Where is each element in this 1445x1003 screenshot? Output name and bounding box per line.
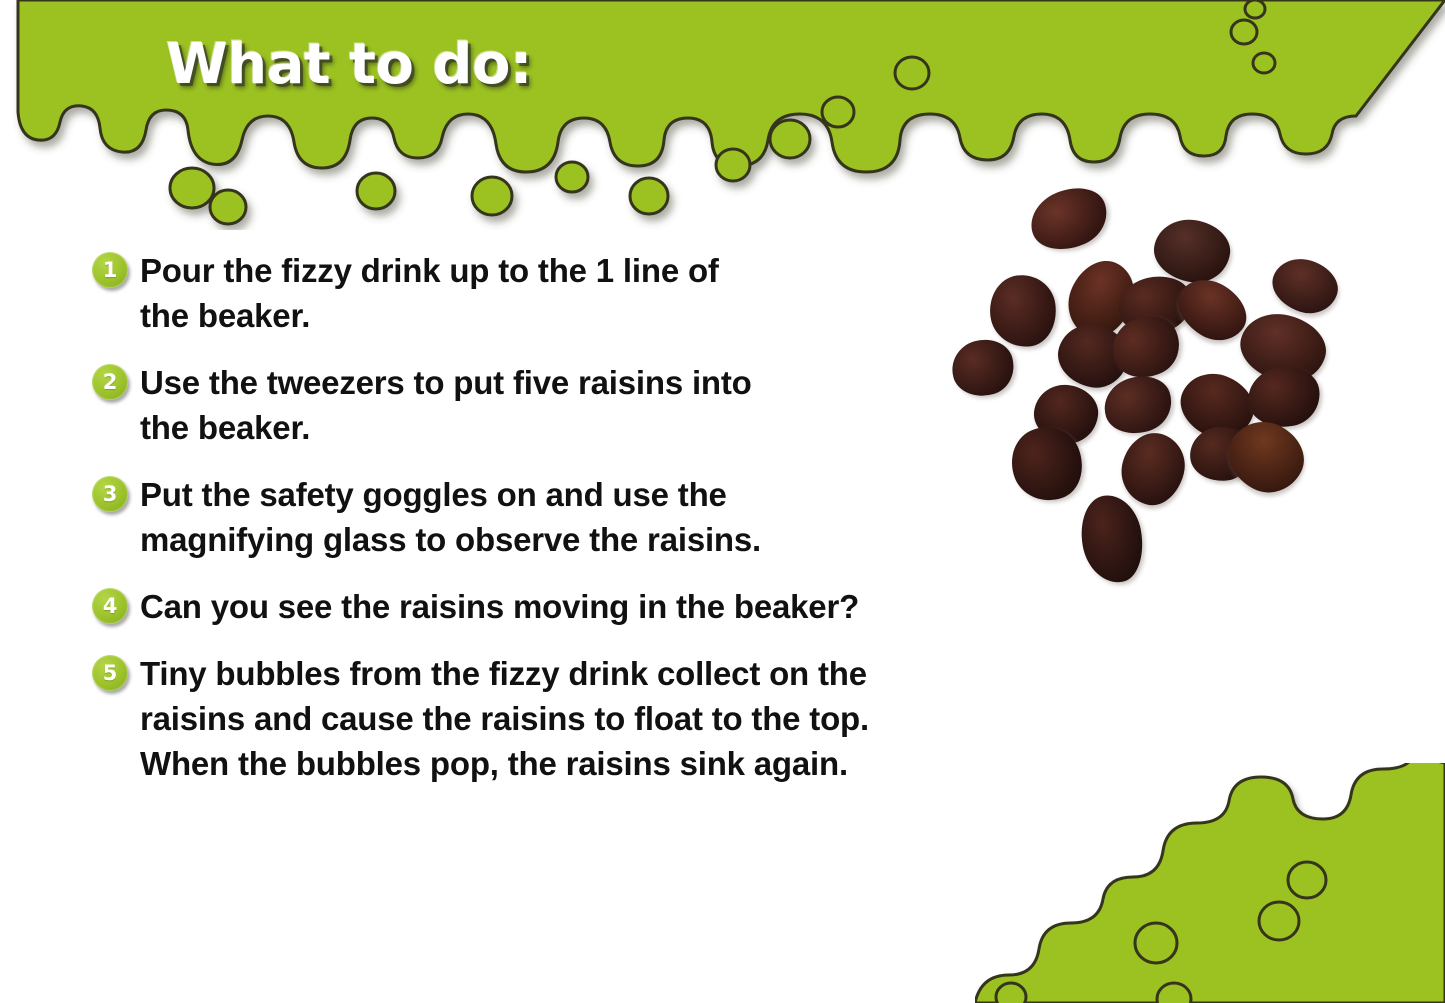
step-text: Put the safety goggles on and use the ma… [140,472,761,562]
step-line: the beaker. [140,405,752,450]
corner-slime-dot [996,983,1026,1003]
slime-drip-dot [170,168,214,208]
slime-drip-dot [716,149,750,181]
slime-drip-dot [556,162,588,192]
list-item: 5 Tiny bubbles from the fizzy drink coll… [92,651,972,786]
step-number-badge: 2 [92,364,128,400]
step-line: When the bubbles pop, the raisins sink a… [140,741,869,786]
worksheet-page: What to do: 1 Pour the fizzy drink up to… [0,0,1445,1003]
corner-slime-dot [1157,983,1191,1003]
slime-drip-dot [822,97,854,127]
list-item: 4 Can you see the raisins moving in the … [92,584,972,629]
raisin [1075,490,1149,587]
step-text: Use the tweezers to put five raisins int… [140,360,752,450]
step-number-badge: 3 [92,476,128,512]
slime-drip-dot [770,120,810,158]
step-line: Tiny bubbles from the fizzy drink collec… [140,651,869,696]
step-line: Use the tweezers to put five raisins int… [140,360,752,405]
step-line: Can you see the raisins moving in the be… [140,584,859,629]
raisin [985,271,1060,351]
raisins-photo [952,165,1382,605]
bottom-right-slime-corner [975,763,1445,1003]
list-item: 1 Pour the fizzy drink up to the 1 line … [92,248,972,338]
raisin [1022,178,1116,261]
list-item: 3 Put the safety goggles on and use the … [92,472,972,562]
step-number-badge: 5 [92,655,128,691]
corner-slime-shape-group [975,763,1445,1003]
step-number-badge: 4 [92,588,128,624]
corner-slime-main-shape [975,763,1445,1003]
step-number-badge: 1 [92,252,128,288]
corner-slime-dot [1259,902,1299,940]
step-line: magnifying glass to observe the raisins. [140,517,761,562]
list-item: 2 Use the tweezers to put five raisins i… [92,360,972,450]
corner-slime-dot [1135,923,1177,963]
slime-drip-dot [210,190,246,224]
slime-drip-dot [1231,20,1257,44]
corner-slime-dot [1288,862,1326,898]
slime-main-shape [18,0,1445,172]
step-line: Pour the fizzy drink up to the 1 line of [140,248,719,293]
step-text: Can you see the raisins moving in the be… [140,584,859,629]
slime-drip-dot [472,177,512,215]
slime-drip-dot [895,57,929,89]
instruction-steps-list: 1 Pour the fizzy drink up to the 1 line … [92,248,972,786]
slime-drip-dot [1245,0,1265,18]
slime-drip-dot [1253,53,1275,73]
slime-drip-dot [357,173,395,209]
step-text: Pour the fizzy drink up to the 1 line of… [140,248,719,338]
slime-drip-dot [630,178,668,214]
step-text: Tiny bubbles from the fizzy drink collec… [140,651,869,786]
page-title: What to do: [166,32,532,97]
step-line: raisins and cause the raisins to float t… [140,696,869,741]
step-line: the beaker. [140,293,719,338]
raisin [1266,251,1345,321]
raisin [1114,427,1192,512]
step-line: Put the safety goggles on and use the [140,472,761,517]
